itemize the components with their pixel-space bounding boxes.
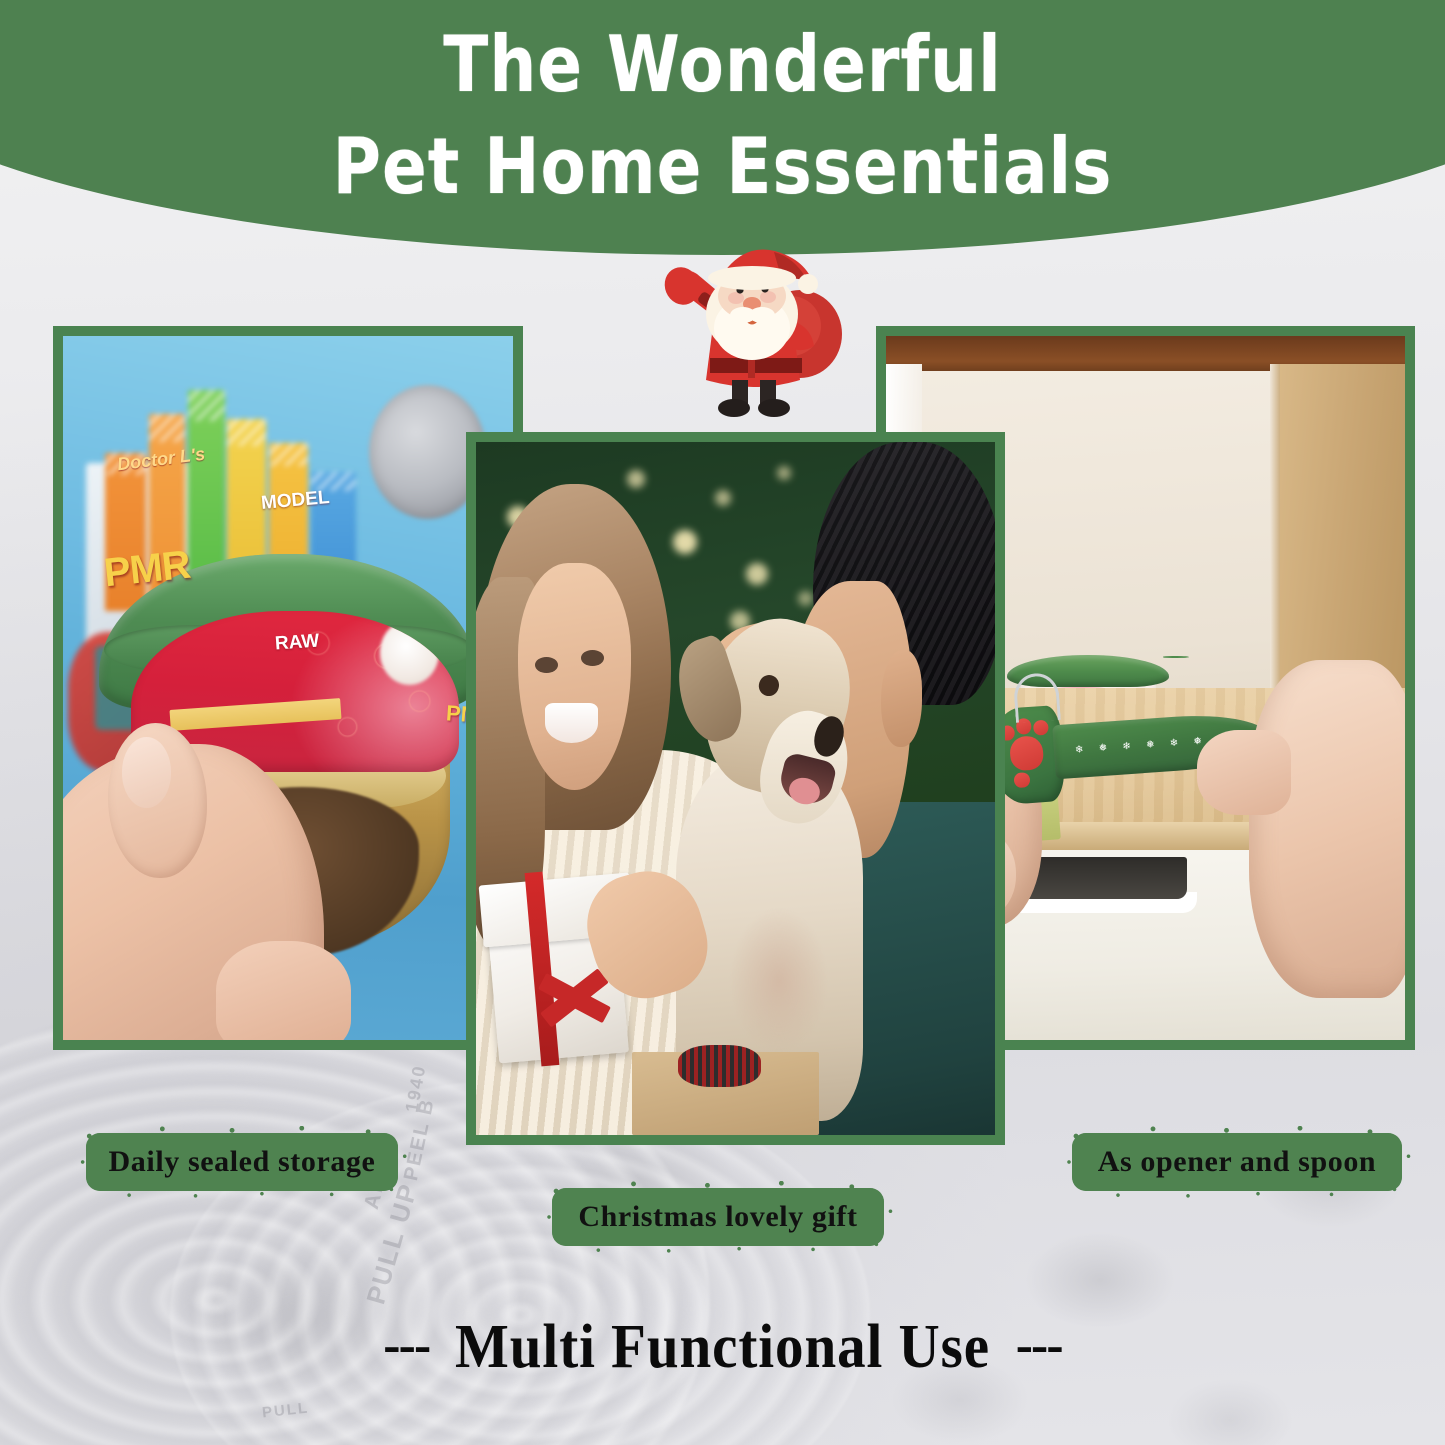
footer-headline: ---Multi Functional Use--- [58,1312,1387,1383]
plaid-ribbon [678,1045,761,1087]
caption-text: Christmas lovely gift [578,1200,857,1234]
photo-left: Doctor L's PMR MODEL RAW PMR [63,336,513,1040]
footer-dash-right: --- [1016,1314,1062,1376]
label-variant-text: RAW [274,630,320,655]
page-title-line1: The Wonderful [0,26,1445,104]
photo-panel-daily-sealed-storage: Doctor L's PMR MODEL RAW PMR [53,326,523,1050]
footer-text: Multi Functional Use [455,1313,990,1381]
caption-daily-sealed-storage: Daily sealed storage [86,1133,398,1191]
caption-text: Daily sealed storage [109,1145,376,1179]
santa-claus-icon [648,222,858,442]
dog-figure [663,608,881,1121]
snowflake-icons: ❄❅❄ ❅❄❅ [1066,720,1211,773]
photo-panel-christmas-gift [466,432,1005,1145]
photo-center [476,442,995,1135]
page-title-line2: Pet Home Essentials [0,128,1445,206]
caption-text: As opener and spoon [1098,1145,1376,1179]
label-product-text: PMR [101,543,191,597]
caption-as-opener-and-spoon: As opener and spoon [1072,1133,1402,1191]
infographic-poster: PULL UP AND PEEL B 1940 PULL The Wonderf… [0,0,1445,1445]
right-hand [1249,660,1405,998]
footer-dash-left: --- [383,1314,429,1376]
caption-christmas-lovely-gift: Christmas lovely gift [552,1188,884,1246]
